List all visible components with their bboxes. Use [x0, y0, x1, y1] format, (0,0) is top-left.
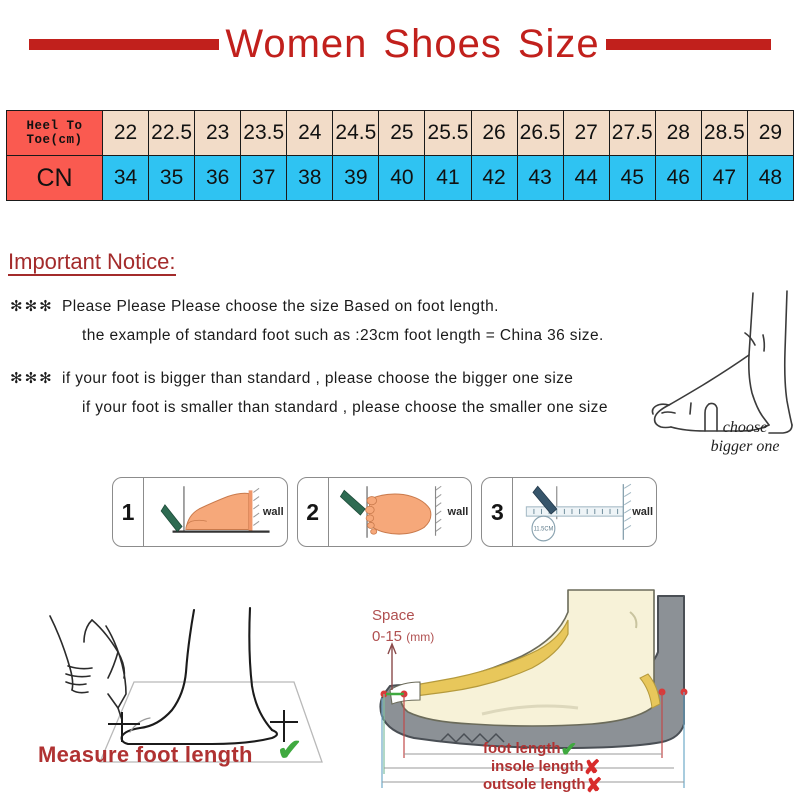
cell-cn: 48	[747, 156, 793, 201]
measurement-name: outsole length	[483, 776, 586, 793]
space-annotation: Space 0-15 (mm)	[372, 605, 434, 648]
measurement-steps: 1 wall 2	[112, 477, 657, 547]
wall-label: wall	[263, 506, 284, 518]
cell-cn: 34	[103, 156, 149, 201]
cell-cn: 36	[195, 156, 241, 201]
title-word-shoes: Shoes	[383, 22, 501, 66]
row-header-heel-to-toe: Heel To Toe(cm)	[7, 111, 103, 156]
cell-cn: 46	[655, 156, 701, 201]
cell-cm: 23.5	[241, 111, 287, 156]
step-box-2: 2	[297, 477, 473, 547]
cell-cm: 25	[379, 111, 425, 156]
title-text: WomenShoesSize	[225, 22, 599, 67]
cell-cm: 29	[747, 111, 793, 156]
size-chart-page: WomenShoesSize Heel To Toe(cm) 22 22.5 2…	[0, 0, 800, 800]
caption-line-2: bigger one	[690, 437, 800, 456]
cell-cn: 42	[471, 156, 517, 201]
measure-foot-label: Measure foot length	[38, 742, 253, 768]
notice-line: Please Please Please choose the size Bas…	[62, 292, 670, 321]
step-1-illustration: wall	[144, 478, 287, 546]
cell-cm: 24	[287, 111, 333, 156]
measurement-outsole-length: outsole length✘	[483, 776, 602, 794]
title-bar-left	[29, 39, 219, 50]
cell-cm: 28	[655, 111, 701, 156]
cell-cn: 47	[701, 156, 747, 201]
cell-cm: 26.5	[517, 111, 563, 156]
notice-paragraph-1: ✻✻✻ Please Please Please choose the size…	[10, 292, 670, 350]
step-2-illustration: wall	[329, 478, 472, 546]
cell-cm: 25.5	[425, 111, 471, 156]
cell-cn: 40	[379, 156, 425, 201]
step-box-1: 1 wall	[112, 477, 288, 547]
space-label-line-2: 0-15 (mm)	[372, 626, 434, 648]
check-icon: ✔	[277, 736, 302, 766]
step-number: 3	[482, 478, 513, 546]
space-unit: (mm)	[406, 630, 434, 644]
title-word-size: Size	[518, 22, 600, 66]
notice-body: ✻✻✻ Please Please Please choose the size…	[10, 292, 670, 436]
measurement-foot-length: foot length✔	[483, 740, 602, 758]
cell-cn: 41	[425, 156, 471, 201]
ruler-badge-text: 11.5CM	[534, 526, 554, 532]
cross-icon: ✘	[586, 775, 603, 797]
notice-line: the example of standard foot such as :23…	[82, 321, 670, 350]
measurement-name: insole length	[491, 758, 584, 775]
space-range: 0-15	[372, 628, 402, 645]
cell-cn: 37	[241, 156, 287, 201]
notice-paragraph-2: ✻✻✻ if your foot is bigger than standard…	[10, 364, 670, 422]
notice-line: if your foot is bigger than standard , p…	[62, 364, 670, 393]
asterisk-marker: ✻✻✻	[10, 364, 54, 393]
cell-cm: 22.5	[149, 111, 195, 156]
cell-cn: 38	[287, 156, 333, 201]
asterisk-marker: ✻✻✻	[10, 292, 54, 321]
notice-line: if your foot is smaller than standard , …	[82, 393, 670, 422]
size-table: Heel To Toe(cm) 22 22.5 23 23.5 24 24.5 …	[6, 110, 794, 201]
cell-cm: 23	[195, 111, 241, 156]
page-title: WomenShoesSize	[0, 20, 800, 68]
step-3-illustration: 11.5CM wall	[513, 478, 656, 546]
space-label-line-1: Space	[372, 605, 434, 626]
cell-cn: 44	[563, 156, 609, 201]
measurement-name: foot length	[483, 740, 560, 757]
cell-cm: 22	[103, 111, 149, 156]
cell-cn: 39	[333, 156, 379, 201]
row-header-cn: CN	[7, 156, 103, 201]
wall-label: wall	[448, 506, 469, 518]
title-word-women: Women	[225, 22, 367, 66]
cell-cn: 35	[149, 156, 195, 201]
title-bar-right	[606, 39, 771, 50]
table-row-heel-to-toe: Heel To Toe(cm) 22 22.5 23 23.5 24 24.5 …	[7, 111, 794, 156]
cell-cm: 28.5	[701, 111, 747, 156]
cell-cn: 43	[517, 156, 563, 201]
foot-art-caption: choose bigger one	[690, 418, 800, 456]
cell-cm: 26	[471, 111, 517, 156]
caption-line-1: choose	[690, 418, 800, 437]
cell-cn: 45	[609, 156, 655, 201]
wall-label: wall	[632, 506, 653, 518]
cell-cm: 27.5	[609, 111, 655, 156]
notice-heading: Important Notice:	[8, 250, 176, 276]
table-row-cn: CN 34 35 36 37 38 39 40 41 42 43 44 45 4…	[7, 156, 794, 201]
cell-cm: 24.5	[333, 111, 379, 156]
step-number: 1	[113, 478, 144, 546]
step-number: 2	[298, 478, 329, 546]
cell-cm: 27	[563, 111, 609, 156]
measurement-insole-length: insole length✘	[491, 758, 602, 776]
step-box-3: 3	[481, 477, 657, 547]
shoe-measurement-labels: foot length✔ insole length✘ outsole leng…	[483, 740, 602, 794]
